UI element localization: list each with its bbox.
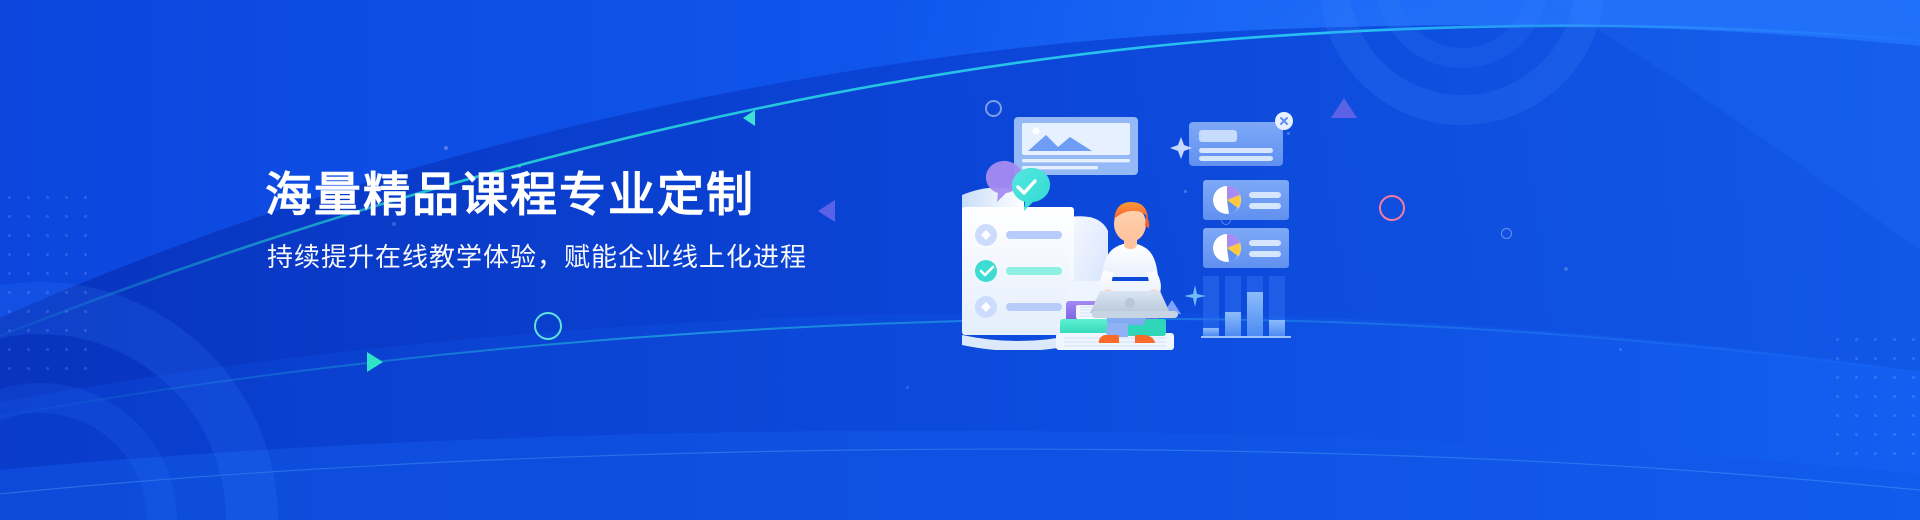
image-card [1014,117,1138,175]
sparkle-dot [906,386,909,389]
copy-block: 海量精品课程专业定制 持续提升在线教学体验，赋能企业线上化进程 [265,166,807,274]
hero-banner: 海量精品课程专业定制 持续提升在线教学体验，赋能企业线上化进程 [0,0,1920,520]
online-learning-illustration [940,95,1360,350]
ring-small-white [1501,228,1512,239]
triangle-cyan-right [367,352,383,372]
dot-grid-left [0,188,95,378]
sparkle-dot [1619,348,1622,351]
sparkle-dot [1564,267,1568,271]
ring-pink [1379,195,1405,221]
sparkle-dot [444,146,448,150]
triangle-purple-left [818,200,835,222]
dot-grid-right [1828,330,1920,460]
ring-cyan [534,312,562,340]
page-title: 海量精品课程专业定制 [265,166,807,224]
sparkle-icon [1170,137,1192,159]
triangle-cyan-left [743,110,755,126]
checklist-document [962,187,1074,350]
page-subtitle: 持续提升在线教学体验，赋能企业线上化进程 [267,240,807,274]
